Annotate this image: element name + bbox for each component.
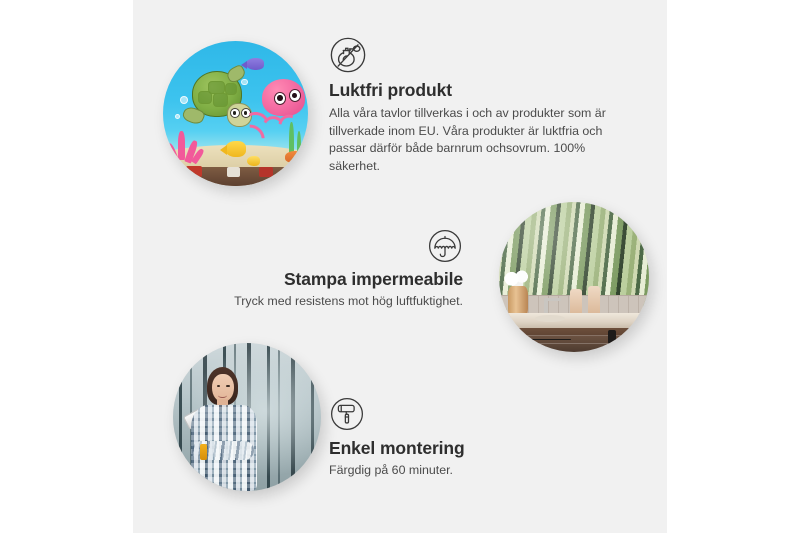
bubble-icon [241, 79, 247, 85]
paint-roller-grip [200, 444, 207, 460]
paint-roller-icon [329, 396, 589, 432]
stone-countertop [499, 313, 649, 328]
feature-assembly: Enkel montering Färgdig på 60 minuter. [329, 396, 589, 480]
feature-title: Enkel montering [329, 438, 589, 459]
feature-description: Tryck med resistens mot hög luftfuktighe… [207, 293, 463, 311]
infographic-page: Luktfri produkt Alla våra tavlor tillver… [0, 0, 800, 533]
crab [285, 151, 305, 163]
cabinet-handle [608, 330, 616, 344]
small-yellow-fish [247, 156, 260, 166]
umbrella-icon [207, 228, 463, 264]
feature-waterproof: Stampa impermeabile Tryck med resistens … [207, 228, 463, 311]
woman-smile [218, 393, 227, 398]
purple-fish [246, 58, 265, 70]
turtle-scute [213, 93, 228, 106]
turtle-scute [225, 83, 238, 95]
underwater-cartoon-photo [163, 41, 308, 186]
wood-vanity-cabinet [502, 328, 649, 352]
infographic-panel: Luktfri produkt Alla våra tavlor tillver… [133, 0, 667, 533]
yellow-fish-tail [220, 145, 227, 155]
coral [178, 131, 185, 160]
foreground-object [186, 166, 202, 178]
bathroom-wallpaper-photo [499, 202, 649, 352]
drawer-handle [530, 339, 571, 340]
sink-basin [535, 315, 565, 322]
feature-title: Luktfri produkt [329, 80, 629, 101]
vanity-drawer [502, 343, 649, 352]
turtle-scute [198, 91, 212, 104]
octopus-eye [289, 89, 301, 102]
feature-description: Färgdig på 60 minuter. [329, 462, 589, 480]
feature-description: Alla våra tavlor tillverkas i och av pro… [329, 105, 629, 175]
foreground-object [227, 167, 240, 177]
yellow-fish [225, 141, 245, 157]
octopus-eye [274, 92, 286, 105]
no-fragrance-spray-bottle-icon [329, 36, 629, 74]
installer-woman-photo [173, 343, 321, 491]
faucet-spout [544, 298, 561, 301]
turtle-eye [230, 108, 240, 118]
feature-odourless: Luktfri produkt Alla våra tavlor tillver… [329, 36, 629, 175]
foreground-object [259, 167, 274, 177]
feature-title: Stampa impermeabile [207, 269, 463, 290]
